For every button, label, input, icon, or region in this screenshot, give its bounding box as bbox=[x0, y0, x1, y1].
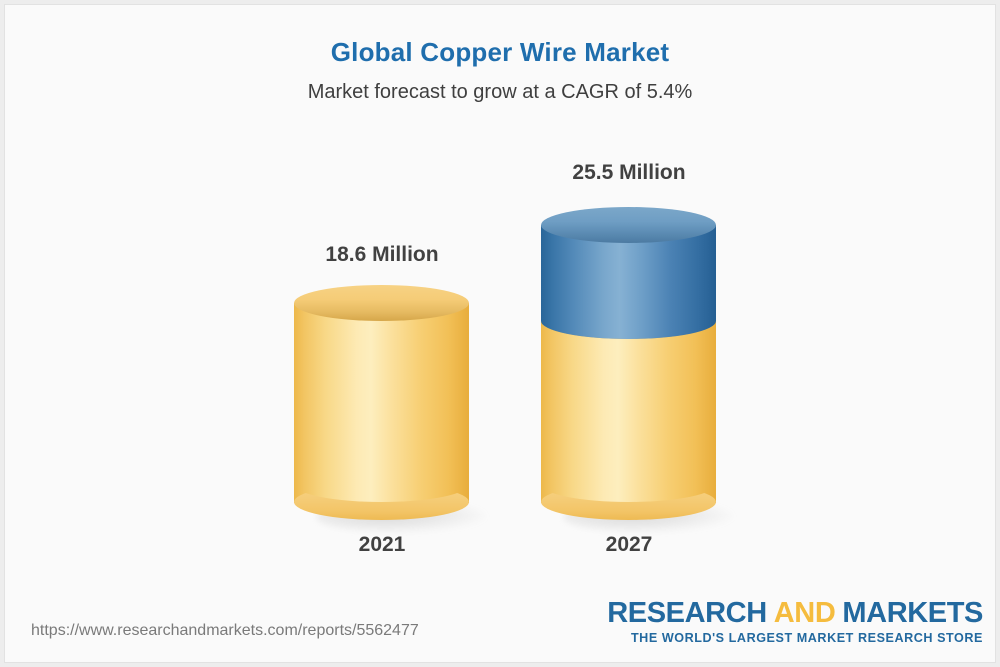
cylinder-2027[interactable] bbox=[541, 207, 716, 520]
segment-body-lower bbox=[541, 321, 716, 339]
value-label-2021: 18.6 Million bbox=[289, 243, 475, 267]
source-url[interactable]: https://www.researchandmarkets.com/repor… bbox=[31, 622, 419, 640]
researchandmarkets-logo[interactable]: RESEARCHANDMARKETS THE WORLD'S LARGEST M… bbox=[607, 597, 983, 646]
bar-group-2027: 25.5 Million 2 bbox=[536, 155, 722, 575]
segment-base-2021 bbox=[294, 285, 469, 520]
category-label-2021: 2021 bbox=[289, 533, 475, 557]
logo-tagline: THE WORLD'S LARGEST MARKET RESEARCH STOR… bbox=[607, 630, 983, 646]
segment-top-cap-shade bbox=[541, 207, 716, 243]
segment-top-cap-shade bbox=[294, 285, 469, 321]
cylinder-2021[interactable] bbox=[294, 285, 469, 520]
value-label-2027: 25.5 Million bbox=[536, 161, 722, 185]
segment-body bbox=[541, 321, 716, 503]
plot-area: 18.6 Million 2021 25.5 Million bbox=[5, 5, 996, 663]
logo-wordmark: RESEARCHANDMARKETS bbox=[607, 597, 983, 629]
logo-word-markets: MARKETS bbox=[842, 597, 983, 629]
segment-growth-2027 bbox=[541, 207, 716, 339]
bar-group-2021: 18.6 Million 2021 bbox=[289, 155, 475, 575]
category-label-2027: 2027 bbox=[536, 533, 722, 557]
logo-word-research: RESEARCH bbox=[607, 597, 767, 629]
chart-canvas: Global Copper Wire Market Market forecas… bbox=[4, 4, 996, 663]
logo-word-and: AND bbox=[774, 597, 836, 629]
segment-body bbox=[294, 303, 469, 503]
